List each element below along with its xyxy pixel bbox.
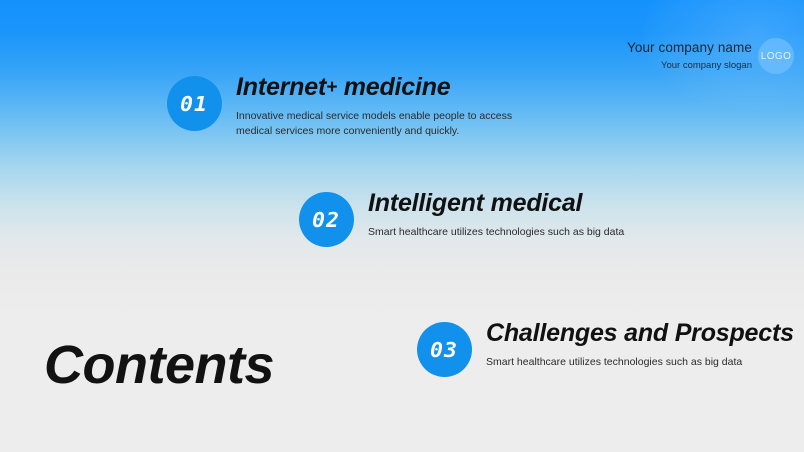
agenda-item-03-text: Challenges and Prospects Smart healthcar…	[486, 320, 794, 370]
company-name: Your company name	[627, 40, 752, 57]
company-text-group: Your company name Your company slogan	[627, 40, 752, 72]
number-badge-03: 03	[417, 322, 472, 377]
agenda-item-03[interactable]: 03 Challenges and Prospects Smart health…	[417, 320, 794, 377]
page-title: Contents	[44, 334, 274, 396]
heading-main-text: Internet	[236, 73, 326, 101]
logo-placeholder-icon: LOGO	[758, 38, 794, 74]
agenda-item-02-text: Intelligent medical Smart healthcare uti…	[368, 190, 624, 240]
agenda-item-01-heading: Internet+ medicine	[236, 74, 536, 102]
number-badge-label: 03	[430, 338, 458, 362]
number-badge-label: 02	[312, 208, 340, 232]
agenda-item-01-description: Innovative medical service models enable…	[236, 109, 536, 139]
logo-label: LOGO	[761, 51, 792, 62]
agenda-item-02[interactable]: 02 Intelligent medical Smart healthcare …	[299, 190, 624, 247]
agenda-item-01-text: Internet+ medicine Innovative medical se…	[236, 74, 536, 139]
heading-plus-symbol: +	[326, 77, 337, 98]
agenda-item-03-description: Smart healthcare utilizes technologies s…	[486, 355, 794, 370]
company-slogan: Your company slogan	[627, 60, 752, 72]
slide-canvas: Your company name Your company slogan LO…	[0, 0, 804, 452]
number-badge-01: 01	[167, 76, 222, 131]
number-badge-label: 01	[180, 92, 208, 116]
agenda-item-02-description: Smart healthcare utilizes technologies s…	[368, 225, 624, 240]
agenda-item-03-heading: Challenges and Prospects	[486, 320, 794, 348]
agenda-item-02-heading: Intelligent medical	[368, 190, 624, 218]
heading-rest-text: medicine	[337, 73, 451, 101]
agenda-item-01[interactable]: 01 Internet+ medicine Innovative medical…	[167, 74, 536, 139]
company-branding: Your company name Your company slogan LO…	[627, 38, 794, 74]
number-badge-02: 02	[299, 192, 354, 247]
